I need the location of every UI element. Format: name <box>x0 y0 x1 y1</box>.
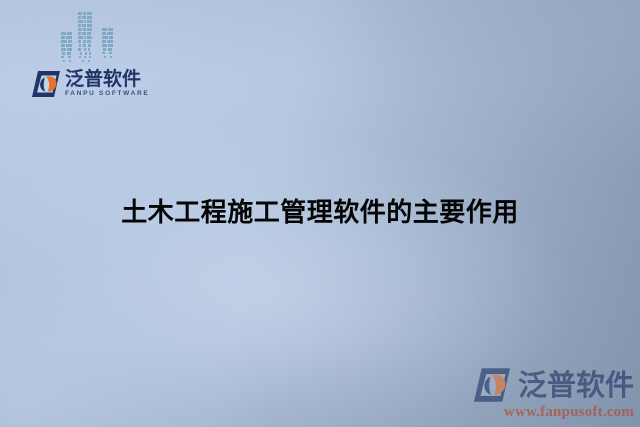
page-title: 土木工程施工管理软件的主要作用 <box>0 192 640 229</box>
brand-name-cn: 泛普软件 <box>65 70 149 89</box>
brand-logo: 泛普软件 FANPU SOFTWARE <box>31 70 149 98</box>
watermark-url: www.fanpusoft.com <box>424 404 634 421</box>
fanpu-logo-icon <box>31 70 61 98</box>
fanpu-logo-icon <box>472 367 512 403</box>
watermark-logo-row: 泛普软件 <box>424 367 634 403</box>
watermark-name-cn: 泛普软件 <box>518 371 634 400</box>
brand-name-en: FANPU SOFTWARE <box>65 91 149 98</box>
pixel-building-skyline-icon <box>56 6 120 68</box>
brand-wordmark: 泛普软件 FANPU SOFTWARE <box>65 70 149 98</box>
watermark: 泛普软件 www.fanpusoft.com <box>424 367 634 421</box>
slide-canvas: 泛普软件 FANPU SOFTWARE 土木工程施工管理软件的主要作用 泛普软件… <box>0 0 640 427</box>
